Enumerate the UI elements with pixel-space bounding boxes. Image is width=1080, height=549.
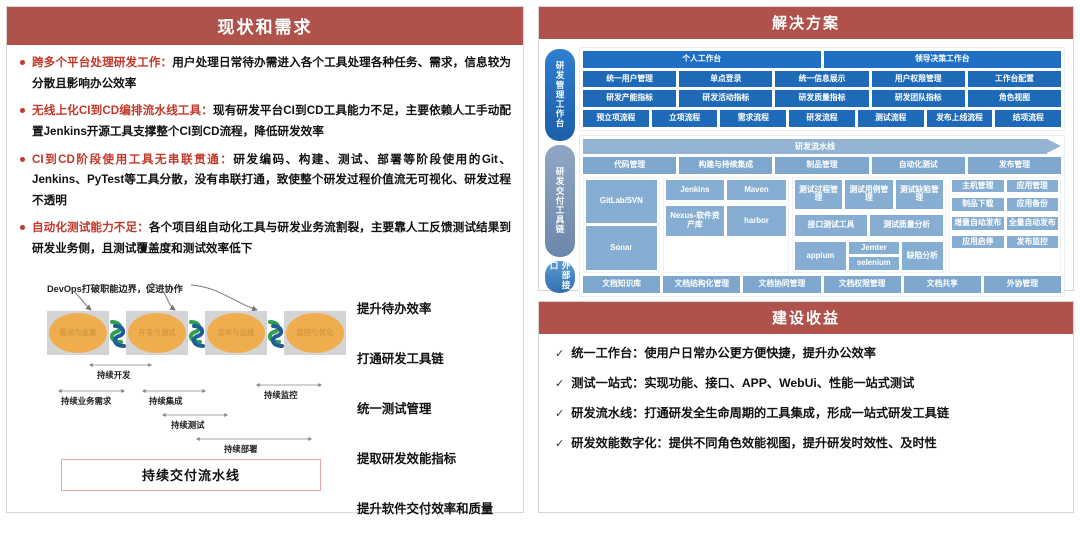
tool-tile[interactable]: Sonar [586, 226, 657, 270]
continuous-span-group: 持续开发 持续监控 持续业务需求 持续集成 持续测试 持续部署 [19, 361, 349, 457]
benefit-detail: 打通研发全生命周期的工具集成，形成一站式研发工具链 [644, 406, 949, 420]
stage-label: 发布与运维 [207, 313, 265, 353]
tile[interactable]: 研发产能指标 [583, 90, 676, 107]
list-item: ✓ 研发流水线：打通研发全生命周期的工具集成，形成一站式研发工具链 [555, 406, 1059, 422]
list-item: ✓ 统一工作台：使用户日常办公更方便快捷，提升办公效率 [555, 346, 1059, 362]
span-label: 持续测试 [171, 419, 205, 431]
tool-tile[interactable]: 测试质量分析 [870, 215, 943, 236]
tile-personal-workbench[interactable]: 个人工作台 [583, 51, 821, 68]
tool-column-build: Jenkins Maven Nexus-软件资产库 harbor [663, 177, 789, 274]
stage-block: 监控与优化 [284, 311, 346, 355]
tile[interactable]: 单点登录 [679, 71, 772, 88]
tool-tile[interactable]: GitLab/SVN [586, 180, 657, 224]
left-column: 现状和需求 跨多个平台处理研发工作：用户处理日常待办需进入各个工具处理各种任务、… [6, 6, 524, 513]
tool-column-test: 测试过程管理 测试用例管理 测试缺陷管理 接口测试工具 测试质量分析 appiu… [792, 177, 946, 274]
workbench-group: 个人工作台 领导决策工作台 统一用户管理 单点登录 统一信息展示 用户权限管理 … [579, 47, 1065, 131]
benefit-key: 研发流水线： [571, 406, 644, 420]
tool-tile[interactable]: selenium [849, 257, 898, 270]
solution-title: 解决方案 [539, 7, 1073, 39]
stage-block: 需求与度量 [47, 311, 109, 355]
stage-block: 开发与测试 [126, 311, 188, 355]
tool-grid: GitLab/SVN Sonar Jenkins Maven Nexus-软件资… [583, 177, 1061, 274]
tile[interactable]: 发布上线流程 [927, 110, 993, 127]
tool-tile[interactable]: appium [795, 242, 846, 270]
phase-tile[interactable]: 代码管理 [583, 157, 676, 174]
tool-tile[interactable]: Jenkins [666, 180, 725, 201]
stage-block: 发布与运维 [205, 311, 267, 355]
benefits-panel: 建设收益 ✓ 统一工作台：使用户日常办公更方便快捷，提升办公效率 ✓ 测试一站式… [538, 301, 1074, 513]
pipeline-arrow: 研发流水线 [583, 139, 1061, 154]
sync-link-icon [267, 311, 284, 355]
tile[interactable]: 测试流程 [858, 110, 924, 127]
benefit-key: 研发效能数字化： [571, 436, 669, 450]
list-item: ✓ 研发效能数字化：提供不同角色效能视图，提升研发时效性、及时性 [555, 436, 1059, 452]
span-label: 持续部署 [224, 443, 258, 455]
tool-tile[interactable]: 接口测试工具 [795, 215, 868, 236]
list-item: CI到CD阶段使用工具无串联贯通：研发编码、构建、测试、部署等阶段使用的Git、… [19, 150, 511, 212]
tool-tile[interactable]: 全量自动发布 [1007, 217, 1058, 230]
pipeline-phase-row: 代码管理 构建与持续集成 制品管理 自动化测试 发布管理 [583, 157, 1061, 174]
tool-row: Jenkins Maven [666, 180, 786, 201]
outcome-item: 提升软件交付效率和质量 [357, 499, 535, 517]
tile[interactable]: 统一信息展示 [775, 71, 868, 88]
tool-tile[interactable]: Maven [727, 180, 786, 201]
right-column: 解决方案 研发管理工作台 研发交付工具链 外部接口 个人工作台 领导决策工作台 [538, 6, 1074, 513]
bullet-key: 自动化测试能力不足： [32, 221, 149, 234]
tool-row: 应用启停 发布监控 [952, 236, 1058, 249]
stage-label: 监控与优化 [286, 313, 344, 353]
tool-row: 测试过程管理 测试用例管理 测试缺陷管理 [795, 180, 943, 209]
check-icon: ✓ [555, 406, 564, 420]
doc-tile[interactable]: 外协管理 [984, 276, 1061, 293]
tool-row: Nexus-软件资产库 harbor [666, 206, 786, 235]
tile[interactable]: 工作台配置 [968, 71, 1061, 88]
tile[interactable]: 结项流程 [995, 110, 1061, 127]
tool-tile[interactable]: 缺陷分析 [902, 242, 944, 270]
tile[interactable]: 研发活动指标 [679, 90, 772, 107]
phase-tile[interactable]: 构建与持续集成 [679, 157, 772, 174]
sync-link-icon [109, 311, 126, 355]
tool-tile[interactable]: 测试用例管理 [845, 180, 892, 209]
solution-architecture-diagram: 研发管理工作台 研发交付工具链 外部接口 个人工作台 领导决策工作台 统一用户管… [539, 39, 1073, 336]
stage-label: 开发与测试 [128, 313, 186, 353]
workbench-row-2: 研发产能指标 研发活动指标 研发质量指标 研发团队指标 角色视图 [583, 90, 1061, 107]
outcome-item: 提取研发效能指标 [357, 449, 535, 467]
architecture-rail-group: 研发管理工作台 研发交付工具链 外部接口 [545, 47, 575, 330]
benefit-key: 统一工作台： [571, 346, 644, 360]
benefit-text: 统一工作台：使用户日常办公更方便快捷，提升办公效率 [571, 346, 876, 362]
slide-root: 现状和需求 跨多个平台处理研发工作：用户处理日常待办需进入各个工具处理各种任务、… [0, 0, 1080, 519]
tile-leader-workbench[interactable]: 领导决策工作台 [824, 51, 1062, 68]
bullet-key: CI到CD阶段使用工具无串联贯通： [32, 153, 233, 166]
current-status-body: 跨多个平台处理研发工作：用户处理日常待办需进入各个工具处理各种任务、需求，信息较… [7, 45, 523, 512]
list-item: ✓ 测试一站式：实现功能、接口、APP、WebUi、性能一站式测试 [555, 376, 1059, 392]
solution-panel: 解决方案 研发管理工作台 研发交付工具链 外部接口 个人工作台 领导决策工作台 [538, 6, 1074, 291]
workbench-top-row: 个人工作台 领导决策工作台 [583, 51, 1061, 68]
benefit-key: 测试一站式： [571, 376, 644, 390]
tile[interactable]: 预立项流程 [583, 110, 649, 127]
span-label: 持续开发 [97, 369, 131, 381]
list-item: 跨多个平台处理研发工作：用户处理日常待办需进入各个工具处理各种任务、需求，信息较… [19, 53, 511, 94]
rail-label-management: 研发管理工作台 [545, 49, 575, 141]
list-item: 自动化测试能力不足：各个项目组自动化工具与研发业务流割裂，主要靠人工反馈测试结果… [19, 218, 511, 259]
tile[interactable]: 用户权限管理 [872, 71, 965, 88]
requirement-bullet-list: 跨多个平台处理研发工作：用户处理日常待办需进入各个工具处理各种任务、需求，信息较… [19, 53, 511, 267]
pipeline-arrow-label: 研发流水线 [583, 139, 1047, 154]
rail-label-external: 外部接口 [545, 261, 575, 293]
benefit-text: 研发流水线：打通研发全生命周期的工具集成，形成一站式研发工具链 [571, 406, 949, 422]
span-label: 持续业务需求 [61, 395, 111, 407]
doc-tile[interactable]: 文档知识库 [583, 276, 660, 293]
tile[interactable]: 角色视图 [968, 90, 1061, 107]
tile[interactable]: 研发流程 [789, 110, 855, 127]
benefit-detail: 提供不同角色效能视图，提升研发时效性、及时性 [669, 436, 937, 450]
devops-lifecycle-diagram: DevOps打破职能边界，促进协作 需求与度量 [19, 273, 511, 512]
doc-tile[interactable]: 文档权限管理 [824, 276, 901, 293]
benefit-text: 测试一站式：实现功能、接口、APP、WebUi、性能一站式测试 [571, 376, 914, 392]
tile[interactable]: 统一用户管理 [583, 71, 676, 88]
benefit-detail: 使用户日常办公更方便快捷，提升办公效率 [644, 346, 876, 360]
doc-tile[interactable]: 文档协同管理 [743, 276, 820, 293]
tool-tile[interactable]: 测试过程管理 [795, 180, 842, 209]
phase-tile[interactable]: 发布管理 [968, 157, 1061, 174]
span-label: 持续集成 [149, 395, 183, 407]
stage-label: 需求与度量 [49, 313, 107, 353]
tool-tile[interactable]: Jemter [849, 242, 898, 255]
span-arrows-icon [19, 361, 349, 457]
benefit-text: 研发效能数字化：提供不同角色效能视图，提升研发时效性、及时性 [571, 436, 937, 452]
benefit-detail: 实现功能、接口、APP、WebUi、性能一站式测试 [644, 376, 914, 390]
sync-link-icon [188, 311, 205, 355]
workbench-row-1: 统一用户管理 单点登录 统一信息展示 用户权限管理 工作台配置 [583, 71, 1061, 88]
doc-tile[interactable]: 文档结构化管理 [663, 276, 740, 293]
tool-tile[interactable]: Nexus-软件资产库 [666, 206, 725, 235]
list-item: 无线上化CI到CD编排流水线工具：现有研发平台CI到CD工具能力不足，主要依赖人… [19, 101, 511, 142]
tool-row: appium Jemter selenium 缺陷分析 [795, 242, 943, 270]
outcome-item: 提升待办效率 [357, 299, 535, 317]
tool-column-code: GitLab/SVN Sonar [583, 177, 660, 274]
tool-tile[interactable]: 应用启停 [952, 236, 1003, 249]
tool-tile[interactable]: 应用管理 [1007, 180, 1058, 193]
check-icon: ✓ [555, 346, 564, 360]
bullet-key: 跨多个平台处理研发工作： [32, 56, 172, 69]
pipeline-group: 研发流水线 代码管理 构建与持续集成 制品管理 自动化测试 发布管理 [579, 135, 1065, 297]
tool-row: 制品下载 应用备份 [952, 198, 1058, 211]
bullet-key: 无线上化CI到CD编排流水线工具： [32, 104, 213, 117]
continuous-delivery-pipeline-box: 持续交付流水线 [61, 459, 321, 491]
doc-tile[interactable]: 文档共享 [904, 276, 981, 293]
tool-tile[interactable]: harbor [727, 206, 786, 235]
tool-tile[interactable]: 增量自动发布 [952, 217, 1003, 230]
tool-tile[interactable]: 发布监控 [1007, 236, 1058, 249]
lifecycle-stage-row: 需求与度量 开发与测试 [47, 311, 346, 355]
check-icon: ✓ [555, 376, 564, 390]
tool-tile[interactable]: 主机管理 [952, 180, 1003, 193]
rail-label-toolchain: 研发交付工具链 [545, 145, 575, 257]
outcome-list: 提升待办效率 打通研发工具链 统一测试管理 提取研发效能指标 提升软件交付效率和… [357, 299, 535, 549]
outcome-item: 打通研发工具链 [357, 349, 535, 367]
workbench-row-3: 预立项流程 立项流程 需求流程 研发流程 测试流程 发布上线流程 结项流程 [583, 110, 1061, 127]
architecture-group-stack: 个人工作台 领导决策工作台 统一用户管理 单点登录 统一信息展示 用户权限管理 … [579, 47, 1065, 330]
phase-tile[interactable]: 制品管理 [775, 157, 868, 174]
tool-row: 接口测试工具 测试质量分析 [795, 215, 943, 236]
tool-row: 增量自动发布 全量自动发布 [952, 217, 1058, 230]
tile[interactable]: 研发团队指标 [872, 90, 965, 107]
current-status-title: 现状和需求 [7, 7, 523, 45]
document-row: 文档知识库 文档结构化管理 文档协同管理 文档权限管理 文档共享 外协管理 [583, 276, 1061, 293]
benefits-title: 建设收益 [539, 302, 1073, 334]
phase-tile[interactable]: 自动化测试 [872, 157, 965, 174]
tile[interactable]: 立项流程 [652, 110, 718, 127]
current-status-panel: 现状和需求 跨多个平台处理研发工作：用户处理日常待办需进入各个工具处理各种任务、… [6, 6, 524, 513]
tool-column-release: 主机管理 应用管理 制品下载 应用备份 增量自动发布 全量自动发布 [949, 177, 1061, 274]
tool-tile[interactable]: 测试缺陷管理 [896, 180, 943, 209]
tool-row: 主机管理 应用管理 [952, 180, 1058, 193]
tool-tile[interactable]: 应用备份 [1007, 198, 1058, 211]
benefits-list: ✓ 统一工作台：使用户日常办公更方便快捷，提升办公效率 ✓ 测试一站式：实现功能… [539, 334, 1073, 512]
outcome-item: 统一测试管理 [357, 399, 535, 417]
tile[interactable]: 需求流程 [720, 110, 786, 127]
tile[interactable]: 研发质量指标 [775, 90, 868, 107]
tool-tile[interactable]: 制品下载 [952, 198, 1003, 211]
check-icon: ✓ [555, 436, 564, 450]
span-label: 持续监控 [264, 389, 298, 401]
arrow-tip-icon [1047, 139, 1061, 153]
